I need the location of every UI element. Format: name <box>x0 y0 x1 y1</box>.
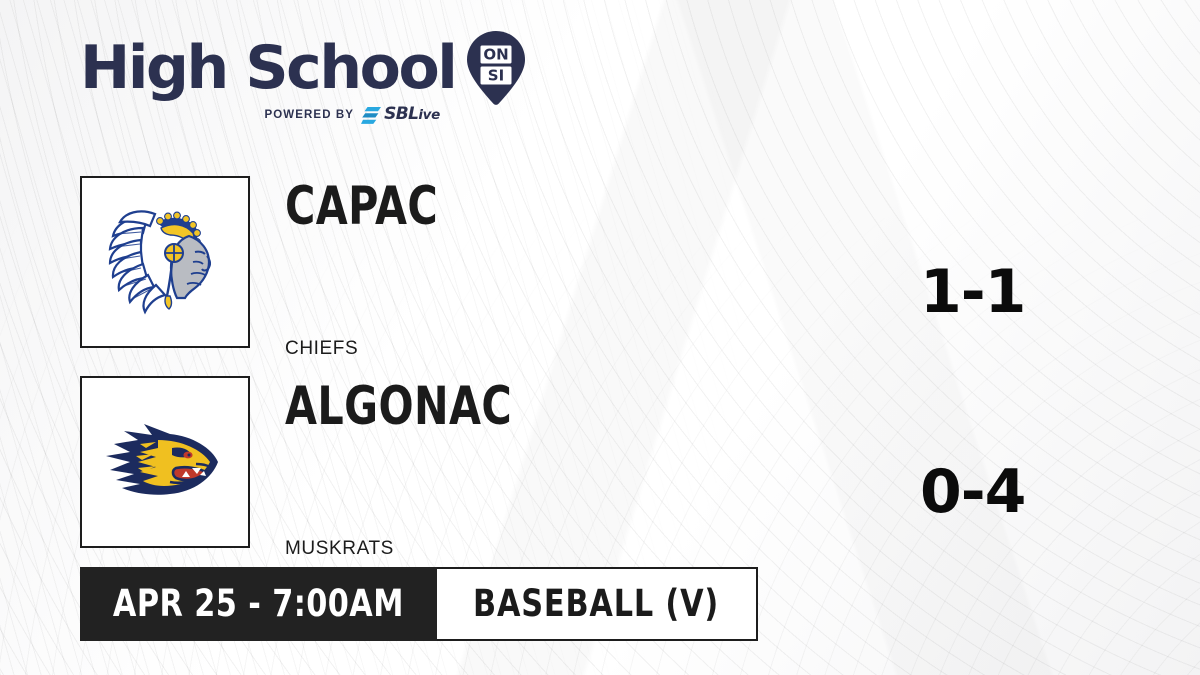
svg-text:ON: ON <box>484 46 509 64</box>
on-si-pin-icon: ON SI <box>467 31 525 105</box>
capac-chiefs-logo-icon <box>103 202 227 322</box>
game-info-bar: APR 25 - 7:00AM BASEBALL (V) <box>80 567 758 641</box>
brand-header: High School ON SI POWERED BY <box>80 33 510 133</box>
sblive-wordmark: SBLive <box>384 106 440 124</box>
game-datetime-panel: APR 25 - 7:00AM <box>80 567 437 641</box>
sblive-logo: SBLive <box>361 106 440 124</box>
home-team-record: 0-4 <box>920 462 1025 522</box>
powered-by-row: POWERED BY SBLive <box>80 106 440 124</box>
algonac-muskrats-logo-icon <box>100 414 230 510</box>
brand-title: High School <box>80 37 455 99</box>
away-team-mascot: CHIEFS <box>285 338 358 360</box>
sblive-wordmark-tail: ive <box>418 107 440 123</box>
game-sport-panel: BASEBALL (V) <box>437 567 758 641</box>
sblive-wordmark-main: SBL <box>384 104 418 124</box>
powered-by-label: POWERED BY <box>264 109 354 121</box>
home-team-mascot: MUSKRATS <box>285 538 394 560</box>
svg-text:SI: SI <box>488 67 504 85</box>
game-sport: BASEBALL (V) <box>473 585 719 623</box>
away-team-record: 1-1 <box>920 262 1025 322</box>
home-team-name: ALGONAC <box>285 380 512 433</box>
home-team-logo-box <box>80 376 250 548</box>
away-team-name: CAPAC <box>285 180 438 233</box>
away-team-logo-box <box>80 176 250 348</box>
game-datetime: APR 25 - 7:00AM <box>113 585 404 623</box>
brand-logo-row: High School ON SI <box>80 33 510 103</box>
game-preview-card: High School ON SI POWERED BY <box>0 0 1200 675</box>
sblive-s-mark <box>361 107 381 124</box>
